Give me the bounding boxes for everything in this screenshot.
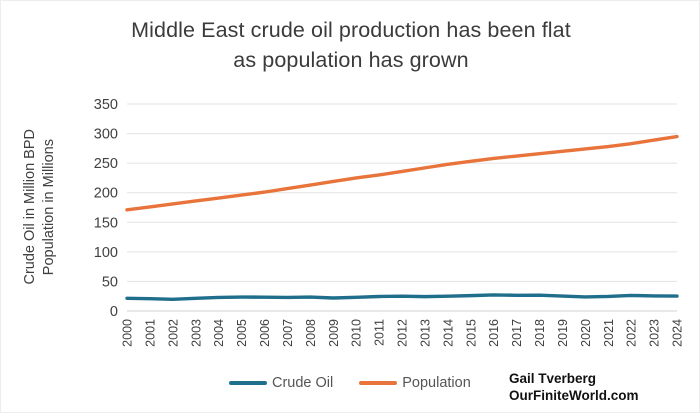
x-tick-label: 2022 [625,319,639,347]
y-tick-label: 50 [102,274,118,290]
x-tick-label: 2018 [533,319,547,347]
x-tick-label: 2002 [166,319,180,347]
gridlines [127,104,677,311]
x-tick-label: 2008 [304,319,318,347]
chart-legend: Crude OilPopulation [229,375,471,391]
attribution-author: Gail Tverberg [509,370,639,387]
x-tick-label: 2023 [648,319,662,347]
series-line-population [127,137,677,210]
legend-label: Population [402,375,471,391]
attribution-site: OurFiniteWorld.com [509,387,639,404]
attribution: Gail Tverberg OurFiniteWorld.com [509,370,639,404]
x-tick-label: 2020 [579,319,593,347]
x-tick-label: 2016 [487,319,501,347]
x-tick-label: 2015 [464,319,478,347]
y-tick-label: 250 [94,156,118,172]
x-tick-label: 2000 [121,319,135,347]
plot-area: 350300250200150100500 200020012002200320… [1,1,700,413]
x-tick-label: 2005 [235,319,249,347]
y-tick-label: 350 [94,97,118,113]
x-tick-label: 2024 [671,319,685,347]
legend-swatch-icon [359,381,397,385]
x-tick-label: 2019 [556,319,570,347]
series-line-crude-oil [127,295,677,299]
y-axis-ticks: 350300250200150100500 [94,97,118,320]
x-tick-label: 2014 [441,319,455,347]
chart-container: Middle East crude oil production has bee… [0,0,700,413]
x-tick-label: 2009 [327,319,341,347]
x-tick-label: 2012 [396,319,410,347]
x-tick-label: 2003 [189,319,203,347]
x-tick-label: 2010 [350,319,364,347]
x-tick-label: 2006 [258,319,272,347]
x-axis-ticks: 2000200120022003200420052006200720082009… [121,319,685,347]
y-tick-label: 150 [94,215,118,231]
legend-label: Crude Oil [272,375,333,391]
x-tick-label: 2017 [510,319,524,347]
x-tick-label: 2011 [373,319,387,346]
legend-swatch-icon [229,381,267,385]
x-tick-label: 2001 [143,319,157,347]
x-tick-label: 2004 [212,319,226,347]
x-tick-label: 2007 [281,319,295,347]
y-tick-label: 200 [94,186,118,202]
x-tick-label: 2013 [418,319,432,347]
y-tick-label: 0 [110,304,118,320]
data-series [127,137,677,300]
legend-item-population[interactable]: Population [359,375,471,391]
x-tick-label: 2021 [602,319,616,347]
y-tick-label: 100 [94,245,118,261]
legend-item-crude-oil[interactable]: Crude Oil [229,375,333,391]
y-tick-label: 300 [94,127,118,143]
